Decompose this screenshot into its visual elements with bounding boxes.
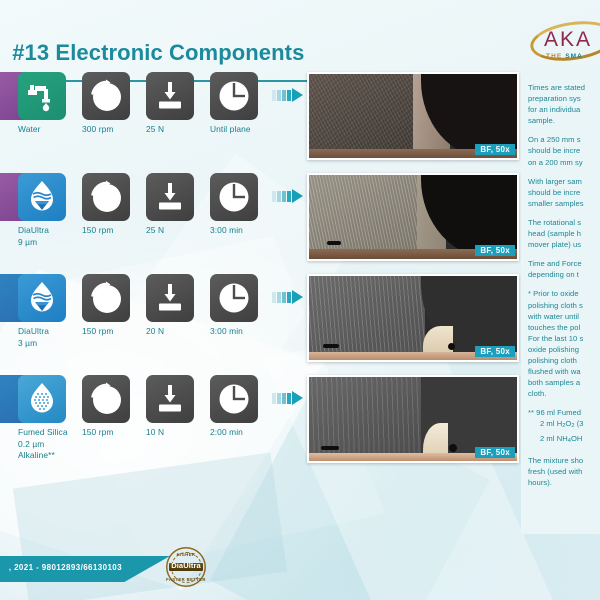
speed-label: 150 rpm [82, 225, 152, 237]
note-line: mover plate) us [528, 240, 581, 249]
micrograph-caption: BF, 50x [475, 144, 515, 155]
consumable-size: 0.2 µm [18, 439, 44, 449]
note-line: head (sample h [528, 229, 581, 238]
tap-water-icon [18, 72, 66, 120]
force-label: 20 N [146, 326, 216, 338]
note-line: should be incre [528, 188, 580, 197]
note-line: depending on t [528, 270, 579, 279]
speed-tile[interactable] [82, 274, 130, 322]
note-line: both samples a [528, 378, 580, 387]
speed-label: 150 rpm [82, 326, 152, 338]
force-label: 25 N [146, 124, 216, 136]
consumable-tile-water[interactable] [18, 72, 66, 120]
note-line: should be incre [528, 146, 580, 155]
micrograph-image[interactable]: BF, 50x [307, 375, 519, 463]
micrograph-column: BF, 50x BF, 50x BF, 50x BF, 50 [307, 72, 519, 476]
step-row: DiaUltra 3 µm 150 rpm 20 N [0, 274, 300, 375]
rotation-icon [82, 173, 130, 221]
note-line: cloth. [528, 389, 546, 398]
micrograph-defect [323, 344, 339, 348]
step-row: Fumed Silica 0.2 µm Alkaline** 150 rpm [0, 375, 300, 476]
time-label: Until plane [210, 124, 280, 136]
force-down-icon [146, 173, 194, 221]
formula-part: (3 [575, 419, 584, 428]
note-paragraph: With larger sam should be incre smaller … [528, 176, 600, 209]
consumable-size: 9 µm [18, 237, 37, 247]
force-tile[interactable] [146, 375, 194, 423]
note-line-formula: 2 ml H2O2 (3 [528, 419, 584, 428]
note-line: flushed with wa [528, 367, 581, 376]
flow-arrow-icon [272, 88, 308, 103]
consumable-label: Fumed Silica 0.2 µm Alkaline** [18, 427, 88, 462]
note-line: polishing cloth [528, 356, 577, 365]
note-line: On a 250 mm s [528, 135, 581, 144]
note-line: oxide polishing [528, 345, 579, 354]
note-line: The rotational s [528, 218, 581, 227]
seal-product-name: DiaUltra [166, 561, 206, 570]
seal-bottom-text: FASTER BETTER [166, 577, 206, 582]
rotation-icon [82, 72, 130, 120]
time-tile[interactable] [210, 375, 258, 423]
step-row: Water 300 rpm 25 N [0, 72, 300, 173]
time-tile[interactable] [210, 274, 258, 322]
force-tile[interactable] [146, 274, 194, 322]
speed-tile[interactable] [82, 72, 130, 120]
micrograph-defect [448, 343, 455, 350]
note-paragraph: Times are stated preparation sys for an … [528, 82, 600, 126]
force-down-icon [146, 375, 194, 423]
preparation-steps: Water 300 rpm 25 N [0, 72, 300, 476]
micrograph-defect [321, 446, 339, 450]
micrograph-image[interactable]: BF, 50x [307, 274, 519, 362]
notes-text: Times are stated preparation sys for an … [528, 82, 600, 496]
micrograph-defect [327, 241, 341, 245]
force-down-icon [146, 274, 194, 322]
time-tile[interactable] [210, 173, 258, 221]
micrograph-image[interactable]: BF, 50x [307, 72, 519, 160]
note-line: sample. [528, 116, 555, 125]
seal-top-text: HIGHER [166, 552, 206, 557]
clock-icon [210, 72, 258, 120]
logo-tagline-part2: SMA [565, 53, 583, 60]
time-label: 2:00 min [210, 427, 280, 439]
micrograph-pad-region [309, 175, 425, 259]
slide-page: ef #13 Electronic Components AKA THE SMA [0, 0, 600, 600]
consumable-label: Water [18, 124, 88, 136]
note-line: preparation sys [528, 94, 581, 103]
speed-tile[interactable] [82, 173, 130, 221]
note-line: smaller samples [528, 199, 584, 208]
consumable-name: DiaUltra [18, 225, 49, 235]
note-paragraph: The mixture sho fresh (used with hours). [528, 455, 600, 488]
consumable-tile-diaultra[interactable] [18, 173, 66, 221]
speed-label: 300 rpm [82, 124, 152, 136]
formula-part: OH [571, 434, 583, 443]
note-line: The mixture sho [528, 456, 583, 465]
consumable-tile-diaultra[interactable] [18, 274, 66, 322]
clock-icon [210, 274, 258, 322]
note-line: Times are stated [528, 83, 585, 92]
rotation-icon [82, 274, 130, 322]
force-label: 10 N [146, 427, 216, 439]
note-line: For the last 10 s [528, 334, 583, 343]
micrograph-caption: BF, 50x [475, 245, 515, 256]
brand-logo: AKA THE SMA [528, 18, 600, 66]
silica-drop-icon [18, 375, 66, 423]
logo-tagline: THE SMA [546, 53, 583, 60]
header: ef #13 Electronic Components [0, 18, 600, 64]
note-line: hours). [528, 478, 552, 487]
note-line: touches the pol [528, 323, 580, 332]
flow-arrow-icon [272, 290, 308, 305]
logo-tagline-part1: THE [546, 53, 565, 60]
note-paragraph: The rotational s head (sample h mover pl… [528, 217, 600, 250]
note-line: for an individua [528, 105, 580, 114]
footer-banner-text: , 2021 - 98012893/66130103 [9, 563, 122, 572]
quality-seal-badge: HIGHER DiaUltra FASTER BETTER [166, 547, 206, 587]
note-line: polishing cloth s [528, 301, 583, 310]
consumable-label: DiaUltra 9 µm [18, 225, 88, 248]
micrograph-pad-region [309, 74, 425, 158]
formula-part: 2 ml NH [540, 434, 568, 443]
force-tile[interactable] [146, 72, 194, 120]
speed-label: 150 rpm [82, 427, 152, 439]
micrograph-caption: BF, 50x [475, 447, 515, 458]
note-paragraph-footnote-1: * Prior to oxide polishing cloth s with … [528, 288, 600, 399]
micrograph-image[interactable]: BF, 50x [307, 173, 519, 261]
time-tile[interactable] [210, 72, 258, 120]
note-paragraph: On a 250 mm s should be incre on a 200 m… [528, 134, 600, 167]
force-tile[interactable] [146, 173, 194, 221]
flow-arrow-icon [272, 391, 308, 406]
time-label: 3:00 min [210, 225, 280, 237]
consumable-extra: Alkaline** [18, 450, 55, 460]
time-label: 3:00 min [210, 326, 280, 338]
consumable-size: 3 µm [18, 338, 37, 348]
note-line: ** 96 ml Fumed [528, 408, 581, 417]
micrograph-defect [449, 444, 457, 452]
clock-icon [210, 375, 258, 423]
step-row: DiaUltra 9 µm 150 rpm 25 N [0, 173, 300, 274]
note-line-formula: 2 ml NH4OH [528, 434, 582, 443]
force-label: 25 N [146, 225, 216, 237]
force-down-icon [146, 72, 194, 120]
note-line: * Prior to oxide [528, 289, 579, 298]
note-line: on a 200 mm sy [528, 158, 583, 167]
note-line: with water until [528, 312, 579, 321]
note-line: Time and Force [528, 259, 582, 268]
consumable-name: Fumed Silica [18, 427, 68, 437]
consumable-label: DiaUltra 3 µm [18, 326, 88, 349]
notes-panel: Times are stated preparation sys for an … [521, 64, 600, 534]
flow-arrow-icon [272, 189, 308, 204]
diamond-drop-icon [18, 173, 66, 221]
consumable-tile-fumed-silica[interactable] [18, 375, 66, 423]
rotation-icon [82, 375, 130, 423]
logo-wordmark: AKA [544, 28, 592, 52]
clock-icon [210, 173, 258, 221]
diamond-drop-icon [18, 274, 66, 322]
note-paragraph: Time and Force depending on t [528, 258, 600, 280]
note-line: fresh (used with [528, 467, 582, 476]
speed-tile[interactable] [82, 375, 130, 423]
note-paragraph-footnote-2: ** 96 ml Fumed 2 ml H2O2 (3 2 ml NH4OH [528, 407, 600, 446]
consumable-name: DiaUltra [18, 326, 49, 336]
page-title: ef #13 Electronic Components [0, 40, 304, 66]
note-line: With larger sam [528, 177, 582, 186]
page-title-main: #13 Electronic Components [12, 40, 304, 65]
micrograph-caption: BF, 50x [475, 346, 515, 357]
formula-part: 2 ml H [540, 419, 562, 428]
